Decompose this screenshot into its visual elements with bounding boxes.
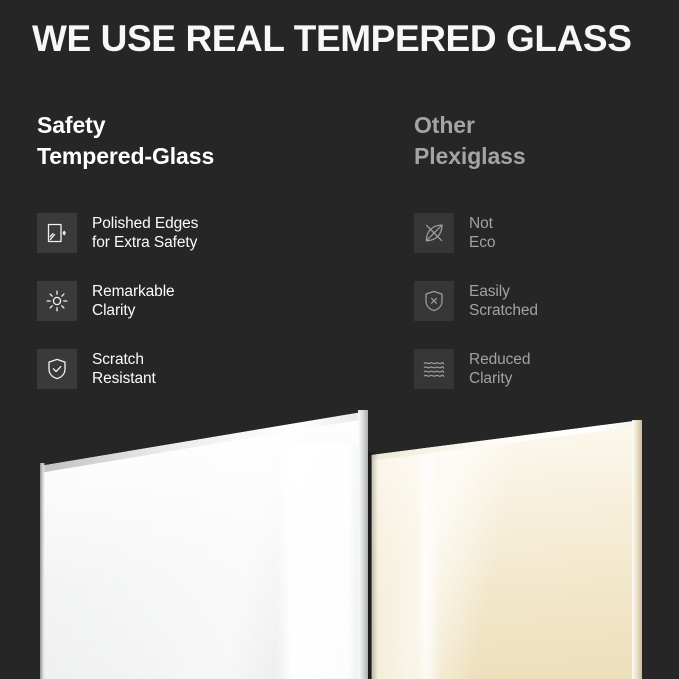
tempered-glass-right-edge — [358, 410, 368, 679]
tempered-glass-reflection — [276, 444, 361, 679]
sun-brightness-icon — [37, 281, 77, 321]
feature-row: Easily Scratched — [414, 278, 664, 324]
plexiglass-right-edge — [632, 420, 642, 679]
feature-row: Scratch Resistant — [37, 346, 377, 392]
feature-label: Easily Scratched — [469, 282, 538, 320]
shield-check-icon — [37, 349, 77, 389]
feature-label: Reduced Clarity — [469, 350, 530, 388]
plexiglass-panel — [370, 420, 642, 679]
shield-x-icon — [414, 281, 454, 321]
feature-list-plexiglass: Not Eco Easily Scratched — [414, 210, 664, 414]
wavy-lines-icon — [414, 349, 454, 389]
feature-label: Scratch Resistant — [92, 350, 156, 388]
leaf-slash-icon — [414, 213, 454, 253]
polished-glass-panel-icon — [37, 213, 77, 253]
tempered-glass-left-edge — [40, 463, 45, 679]
feature-row: Reduced Clarity — [414, 346, 664, 392]
product-comparison-graphic: WE USE REAL TEMPERED GLASS Safety Temper… — [0, 0, 679, 679]
page-title: WE USE REAL TEMPERED GLASS — [32, 17, 652, 61]
column-tempered-glass: Safety Tempered-Glass Polished Edges for… — [37, 110, 377, 172]
feature-row: Not Eco — [414, 210, 664, 256]
product-photo — [0, 392, 679, 679]
feature-row: Polished Edges for Extra Safety — [37, 210, 377, 256]
feature-label: Not Eco — [469, 214, 495, 252]
feature-label: Polished Edges for Extra Safety — [92, 214, 198, 252]
column-title-plexiglass: Other Plexiglass — [414, 110, 664, 172]
column-title-tempered-glass: Safety Tempered-Glass — [37, 110, 377, 172]
plexiglass-reflection — [416, 441, 440, 679]
feature-list-tempered-glass: Polished Edges for Extra Safety Remarkab… — [37, 210, 377, 414]
column-plexiglass: Other Plexiglass Not Eco — [414, 110, 664, 172]
feature-row: Remarkable Clarity — [37, 278, 377, 324]
feature-label: Remarkable Clarity — [92, 282, 175, 320]
